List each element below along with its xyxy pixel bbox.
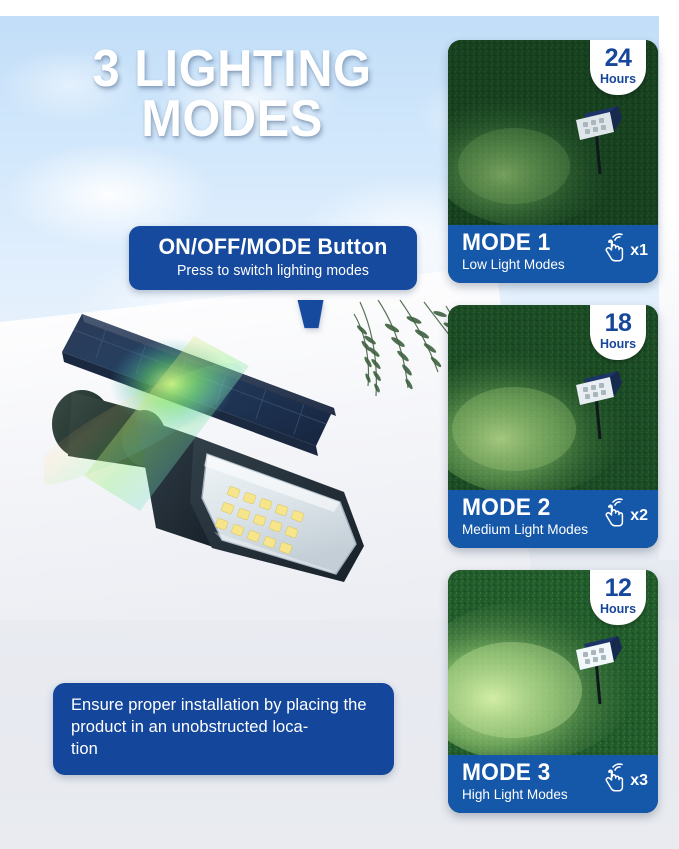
tap-count: x2 xyxy=(630,508,648,528)
tap-count: x3 xyxy=(630,773,648,793)
installation-note-text: Ensure proper installation by placing th… xyxy=(71,695,378,761)
hours-badge: 24 Hours xyxy=(590,40,646,95)
hours-badge: 12 Hours xyxy=(590,570,646,625)
spotlight-fixture-icon xyxy=(566,628,628,706)
hours-label: Hours xyxy=(590,338,646,352)
mode-footer: MODE 2 Medium Light Modes x2 xyxy=(448,490,658,548)
top-white-band xyxy=(0,0,679,16)
spotlight-fixture-icon xyxy=(566,363,628,441)
callout-title: ON/OFF/MODE Button xyxy=(146,235,401,259)
hand-tap-icon xyxy=(602,763,628,793)
infographic-poster: 3 LIGHTING MODES xyxy=(0,0,679,849)
tap-indicator: x1 xyxy=(602,233,648,263)
right-white-margin xyxy=(659,0,679,560)
mode-footer: MODE 1 Low Light Modes x1 xyxy=(448,225,658,283)
mode-photo: 24 Hours xyxy=(448,40,658,225)
mode-card[interactable]: 24 Hours MODE 1 Low Light Modes x1 xyxy=(448,40,658,283)
spotlight-fixture-icon xyxy=(566,98,628,176)
mode-card[interactable]: 18 Hours MODE 2 Medium Light Modes x2 xyxy=(448,305,658,548)
mode-photo: 12 Hours xyxy=(448,570,658,755)
headline-line-1: 3 LIGHTING xyxy=(48,44,416,94)
mode-footer: MODE 3 High Light Modes x3 xyxy=(448,755,658,813)
mode-card[interactable]: 12 Hours MODE 3 High Light Modes x3 xyxy=(448,570,658,813)
hours-number: 18 xyxy=(590,311,646,336)
hand-tap-icon xyxy=(602,498,628,528)
headline-line-2: MODES xyxy=(48,94,416,144)
installation-note-box: Ensure proper installation by placing th… xyxy=(53,683,394,775)
callout-subtitle: Press to switch lighting modes xyxy=(143,263,403,279)
mode-button-callout: ON/OFF/MODE Button Press to switch light… xyxy=(129,226,417,290)
tap-indicator: x2 xyxy=(602,498,648,528)
page-title: 3 LIGHTING MODES xyxy=(48,44,416,145)
hours-badge: 18 Hours xyxy=(590,305,646,360)
hours-number: 12 xyxy=(590,576,646,601)
hours-number: 24 xyxy=(590,46,646,71)
hours-label: Hours xyxy=(590,603,646,617)
mode-photo: 18 Hours xyxy=(448,305,658,490)
hours-label: Hours xyxy=(590,73,646,87)
tap-indicator: x3 xyxy=(602,763,648,793)
tap-count: x1 xyxy=(630,243,648,263)
hand-tap-icon xyxy=(602,233,628,263)
